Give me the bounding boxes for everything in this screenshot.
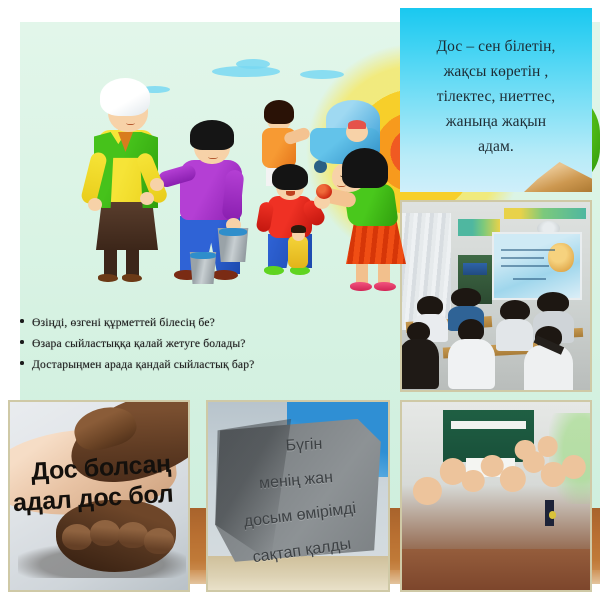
list-item: Достарыңмен арада қандай сыйластық бар? <box>32 354 386 375</box>
finger <box>144 528 174 554</box>
hair <box>264 100 294 124</box>
quote-line-3: тілектес, ниеттес, <box>414 84 578 109</box>
shoe <box>98 274 118 282</box>
girl-offering-apple <box>318 148 392 294</box>
stone-inscription-photo: Бүгін менің жан досым өмірімді сақтап қа… <box>206 400 390 592</box>
sand-dune <box>524 162 592 192</box>
stone-inscription: Бүгін менің жан досым өмірімді сақтап қа… <box>208 402 388 590</box>
student <box>402 322 436 386</box>
wooden-floor <box>402 549 590 590</box>
discussion-questions: Өзіңді, өзгені құрметтей білесің бе? Өза… <box>14 312 386 388</box>
slide-text-line <box>501 249 555 251</box>
apple-icon <box>316 184 332 199</box>
toddler-in-red <box>262 164 324 288</box>
hair <box>272 164 308 190</box>
wall-banner <box>504 208 587 219</box>
slide-text-line <box>513 278 546 280</box>
quote-line-2: жақсы көретін , <box>414 59 578 84</box>
shoe <box>122 274 142 282</box>
slide-text-line <box>501 257 544 259</box>
shoe <box>264 266 284 275</box>
quote-line-5: адам. <box>414 134 578 159</box>
class-group-photo <box>400 400 592 592</box>
collage-page: Дос – сен білетін, жақсы көретін , тілек… <box>0 0 600 600</box>
shoe <box>350 282 372 291</box>
hair <box>190 120 234 150</box>
handshake-caption: Дос болсаң адал дос бол <box>8 449 189 518</box>
baby <box>346 122 368 142</box>
quote-line-4: жаныңа жақын <box>414 109 578 134</box>
list-item: Өзара сыйластыққа қалай жетуге болады? <box>32 333 386 354</box>
student <box>526 326 571 392</box>
inscription-line-2: менің жан <box>206 464 387 499</box>
classroom-lesson-photo <box>400 200 592 392</box>
inscription-line-4: сақтап қалды <box>212 529 390 573</box>
slide-text-line <box>501 265 549 267</box>
doll-toy <box>288 236 308 268</box>
white-headscarf <box>100 78 150 116</box>
quote-line-1: Дос – сен білетін, <box>414 34 578 59</box>
children-helping-grandmother-illustration <box>0 0 392 302</box>
shoe <box>374 282 392 291</box>
water-bucket <box>188 252 218 284</box>
list-item: Өзіңді, өзгені құрметтей білесің бе? <box>32 312 386 333</box>
hand <box>140 192 154 205</box>
friendship-definition-quote: Дос – сен білетін, жақсы көретін , тілек… <box>400 8 592 192</box>
projector-screen <box>492 232 582 300</box>
student <box>451 319 492 387</box>
quote-text: Дос – сен білетін, жақсы көретін , тілек… <box>400 8 592 160</box>
inscription-line-1: Бүгін <box>214 431 390 460</box>
cloud-icon <box>236 59 270 69</box>
finger <box>62 524 92 550</box>
hand <box>88 198 102 211</box>
red-pleated-skirt <box>346 220 392 264</box>
hair <box>342 148 388 188</box>
water-bucket <box>216 228 250 262</box>
grandmother-figure <box>78 78 170 276</box>
hand <box>150 178 164 191</box>
shoe <box>212 270 238 280</box>
inscription-line-3: досым өмірімді <box>209 495 390 536</box>
slide-image <box>548 243 574 272</box>
question-list: Өзіңді, өзгені құрметтей білесің бе? Өза… <box>14 312 386 375</box>
finger <box>90 520 120 546</box>
cloud-icon <box>300 70 344 79</box>
handshake-photo: Дос болсаң адал дос бол <box>8 400 190 592</box>
badge-icon <box>549 511 557 519</box>
boy-with-buckets <box>172 120 264 292</box>
